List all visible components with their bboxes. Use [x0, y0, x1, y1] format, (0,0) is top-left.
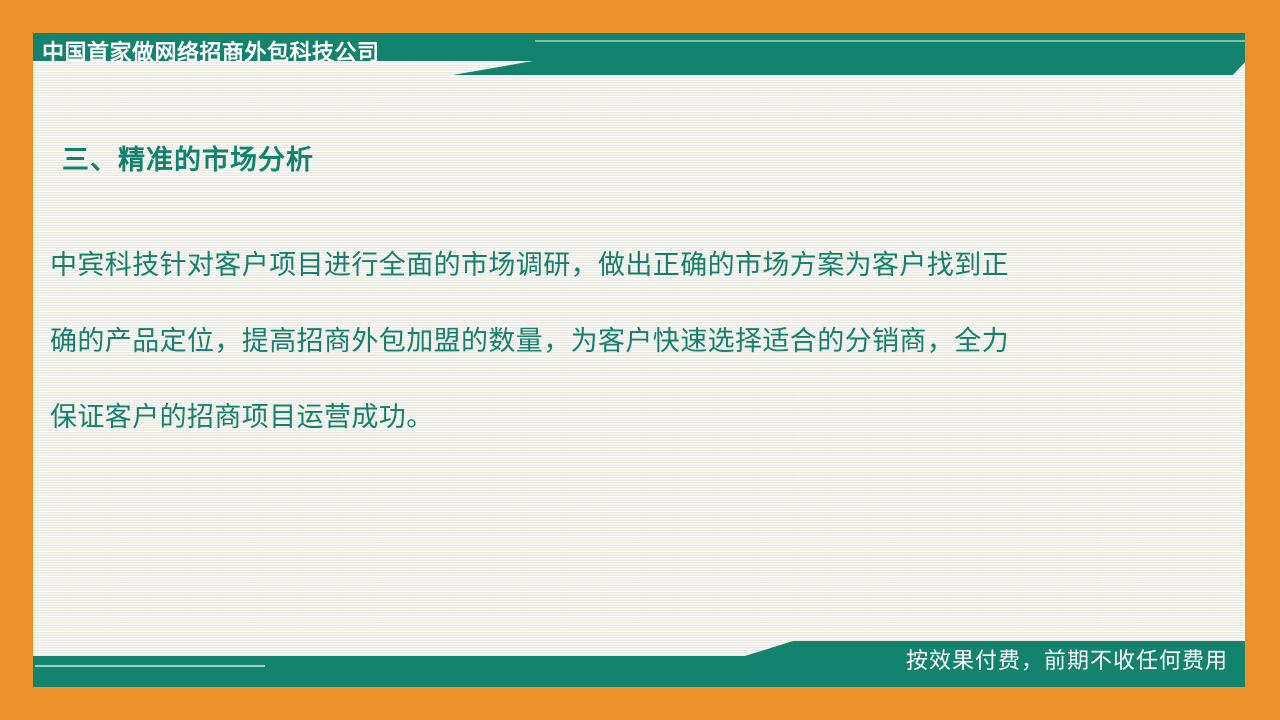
body-line-3: 保证客户的招商项目运营成功。 [50, 380, 1190, 456]
body-line-1: 中宾科技针对客户项目进行全面的市场调研，做出正确的市场方案为客户找到正 [50, 228, 1190, 304]
body-line-2: 确的产品定位，提高招商外包加盟的数量，为客户快速选择适合的分销商，全力 [50, 304, 1190, 380]
slide-root: 中国首家做网络招商外包科技公司 三、精准的市场分析 中宾科技针对客户项目进行全面… [0, 0, 1280, 720]
body-paragraph: 中宾科技针对客户项目进行全面的市场调研，做出正确的市场方案为客户找到正 确的产品… [50, 228, 1190, 456]
footer-slogan: 按效果付费，前期不收任何费用 [906, 647, 1228, 675]
section-title: 三、精准的市场分析 [62, 138, 314, 177]
header-accent-line [535, 40, 1245, 42]
footer-accent-line [35, 665, 265, 667]
header-title: 中国首家做网络招商外包科技公司 [42, 36, 380, 70]
